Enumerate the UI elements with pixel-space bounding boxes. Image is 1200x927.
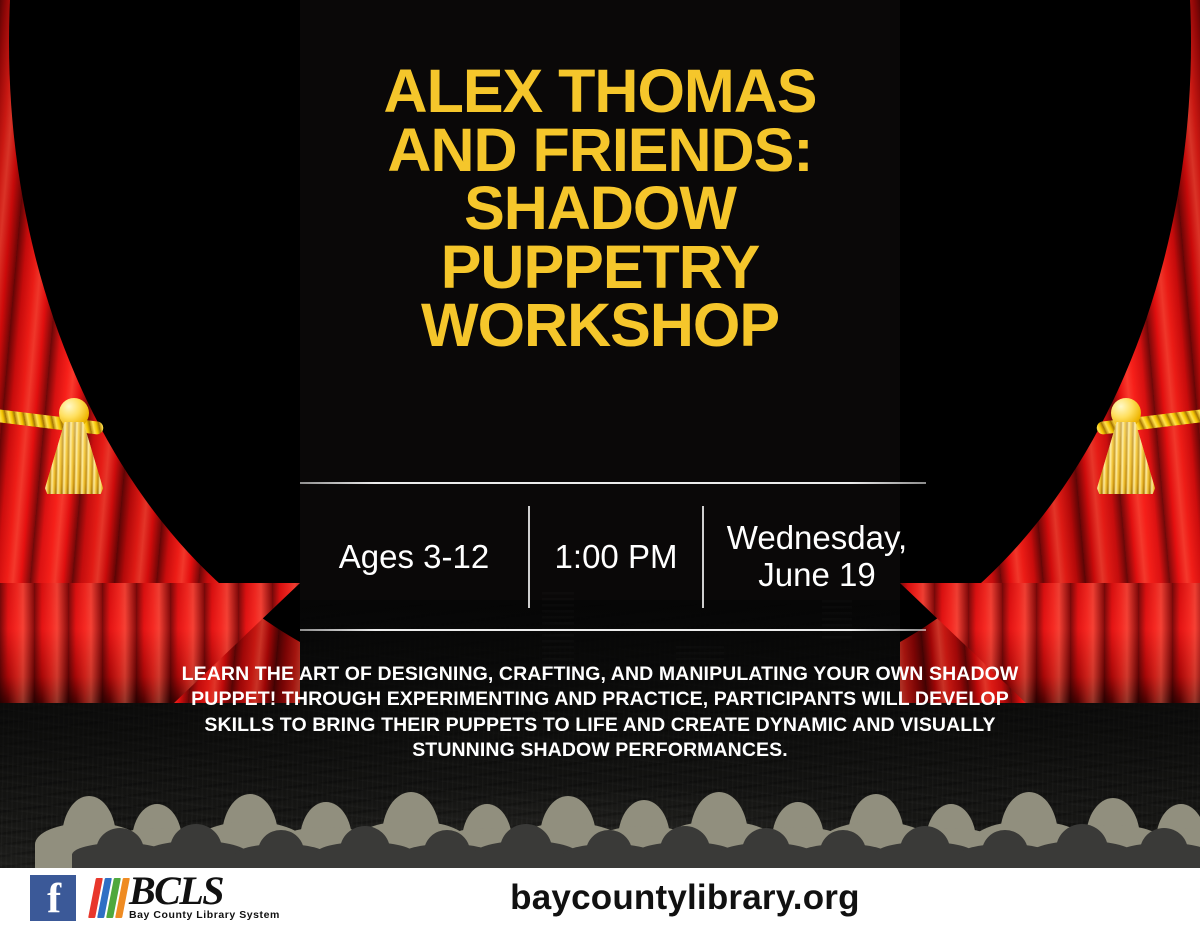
background-artifact xyxy=(676,646,724,660)
audience-head-front xyxy=(1140,828,1188,868)
logo-subtitle: Bay County Library System xyxy=(129,909,280,921)
audience-head-front xyxy=(96,828,144,868)
audience-head-front xyxy=(982,830,1028,868)
event-info-row: Ages 3-12 1:00 PM Wednesday, June 19 xyxy=(300,486,926,628)
event-description: LEARN THE ART OF DESIGNING, CRAFTING, AN… xyxy=(160,662,1040,763)
audience-head-front xyxy=(900,826,950,868)
website-url[interactable]: baycountylibrary.org xyxy=(280,878,1090,918)
audience-head-front xyxy=(500,824,552,868)
info-time: 1:00 PM xyxy=(530,486,702,628)
audience-head-front xyxy=(742,828,790,868)
info-ages: Ages 3-12 xyxy=(300,486,528,628)
audience-head-front xyxy=(660,826,710,868)
curtain-tassel xyxy=(1095,398,1157,494)
info-divider-top xyxy=(300,482,926,484)
audience-silhouettes xyxy=(0,748,1200,868)
audience-head-front xyxy=(820,830,866,868)
tassel-fringe xyxy=(45,422,103,494)
title-line-1: Alex Thomas xyxy=(300,62,900,121)
poster-footer: BCLS Bay County Library System baycounty… xyxy=(0,868,1200,927)
curtain-tassel xyxy=(43,398,105,494)
stage-curtain-left xyxy=(0,0,300,703)
logo-wordmark: BCLS Bay County Library System xyxy=(129,874,280,921)
info-date: Wednesday, June 19 xyxy=(704,486,930,628)
audience-front-row xyxy=(0,748,1200,868)
stage-curtain-right xyxy=(900,0,1200,703)
title-line-5: Workshop xyxy=(300,296,900,355)
audience-head-front xyxy=(424,830,470,868)
title-line-3: Shadow xyxy=(300,179,900,238)
title-line-2: and Friends: xyxy=(300,121,900,180)
audience-head-front xyxy=(258,830,304,868)
title-line-4: Puppetry xyxy=(300,238,900,297)
logo-bars-icon xyxy=(92,878,126,918)
facebook-icon[interactable] xyxy=(30,875,76,921)
bcls-logo[interactable]: BCLS Bay County Library System xyxy=(92,874,280,921)
audience-head-front xyxy=(340,826,390,868)
event-poster: Alex Thomas and Friends: Shadow Puppetry… xyxy=(0,0,1200,927)
audience-head-front xyxy=(1056,824,1108,868)
audience-head-front xyxy=(170,824,222,868)
logo-mark-text: BCLS xyxy=(129,874,280,908)
audience-head-front xyxy=(586,830,632,868)
info-divider-bottom xyxy=(300,629,926,631)
tassel-fringe xyxy=(1097,422,1155,494)
poster-title: Alex Thomas and Friends: Shadow Puppetry… xyxy=(300,62,900,355)
